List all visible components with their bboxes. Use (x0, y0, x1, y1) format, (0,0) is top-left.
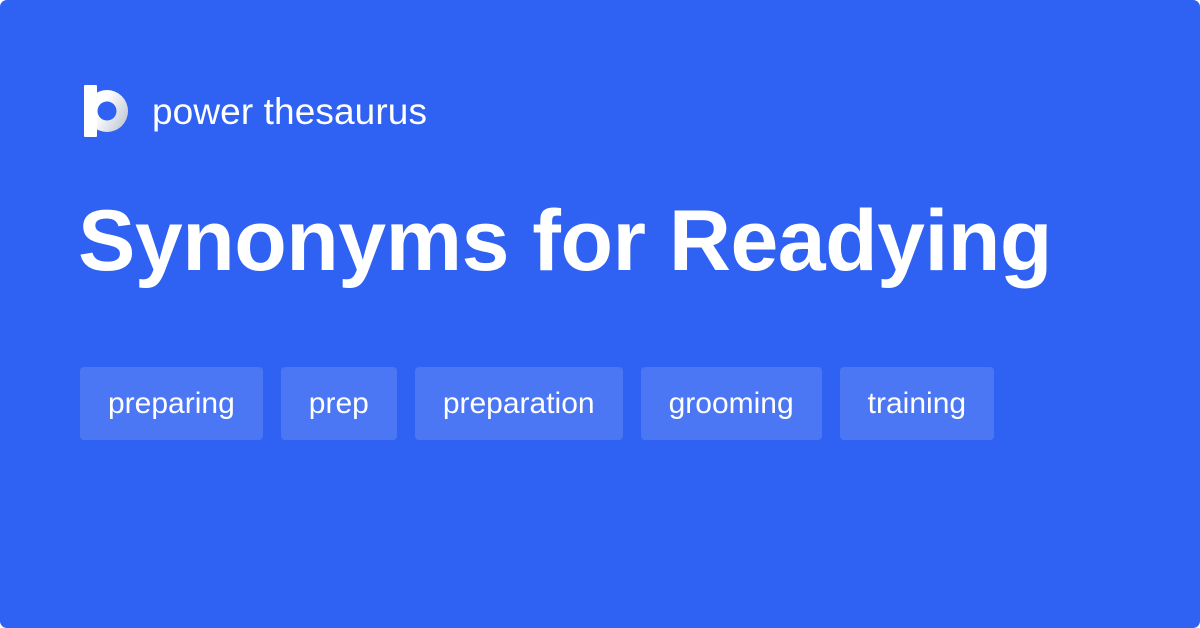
power-thesaurus-b-logo-icon (80, 83, 130, 139)
share-card: power thesaurus Synonyms for Readying pr… (0, 0, 1200, 628)
synonym-chip[interactable]: preparing (80, 367, 263, 440)
synonym-chip[interactable]: grooming (641, 367, 822, 440)
brand-header[interactable]: power thesaurus (80, 80, 427, 142)
brand-name: power thesaurus (152, 93, 427, 130)
synonym-chip-list: preparing prep preparation grooming trai… (80, 367, 1120, 440)
page-title: Synonyms for Readying (78, 196, 1052, 286)
synonym-chip[interactable]: prep (281, 367, 397, 440)
synonym-chip[interactable]: training (840, 367, 994, 440)
synonym-chip[interactable]: preparation (415, 367, 623, 440)
